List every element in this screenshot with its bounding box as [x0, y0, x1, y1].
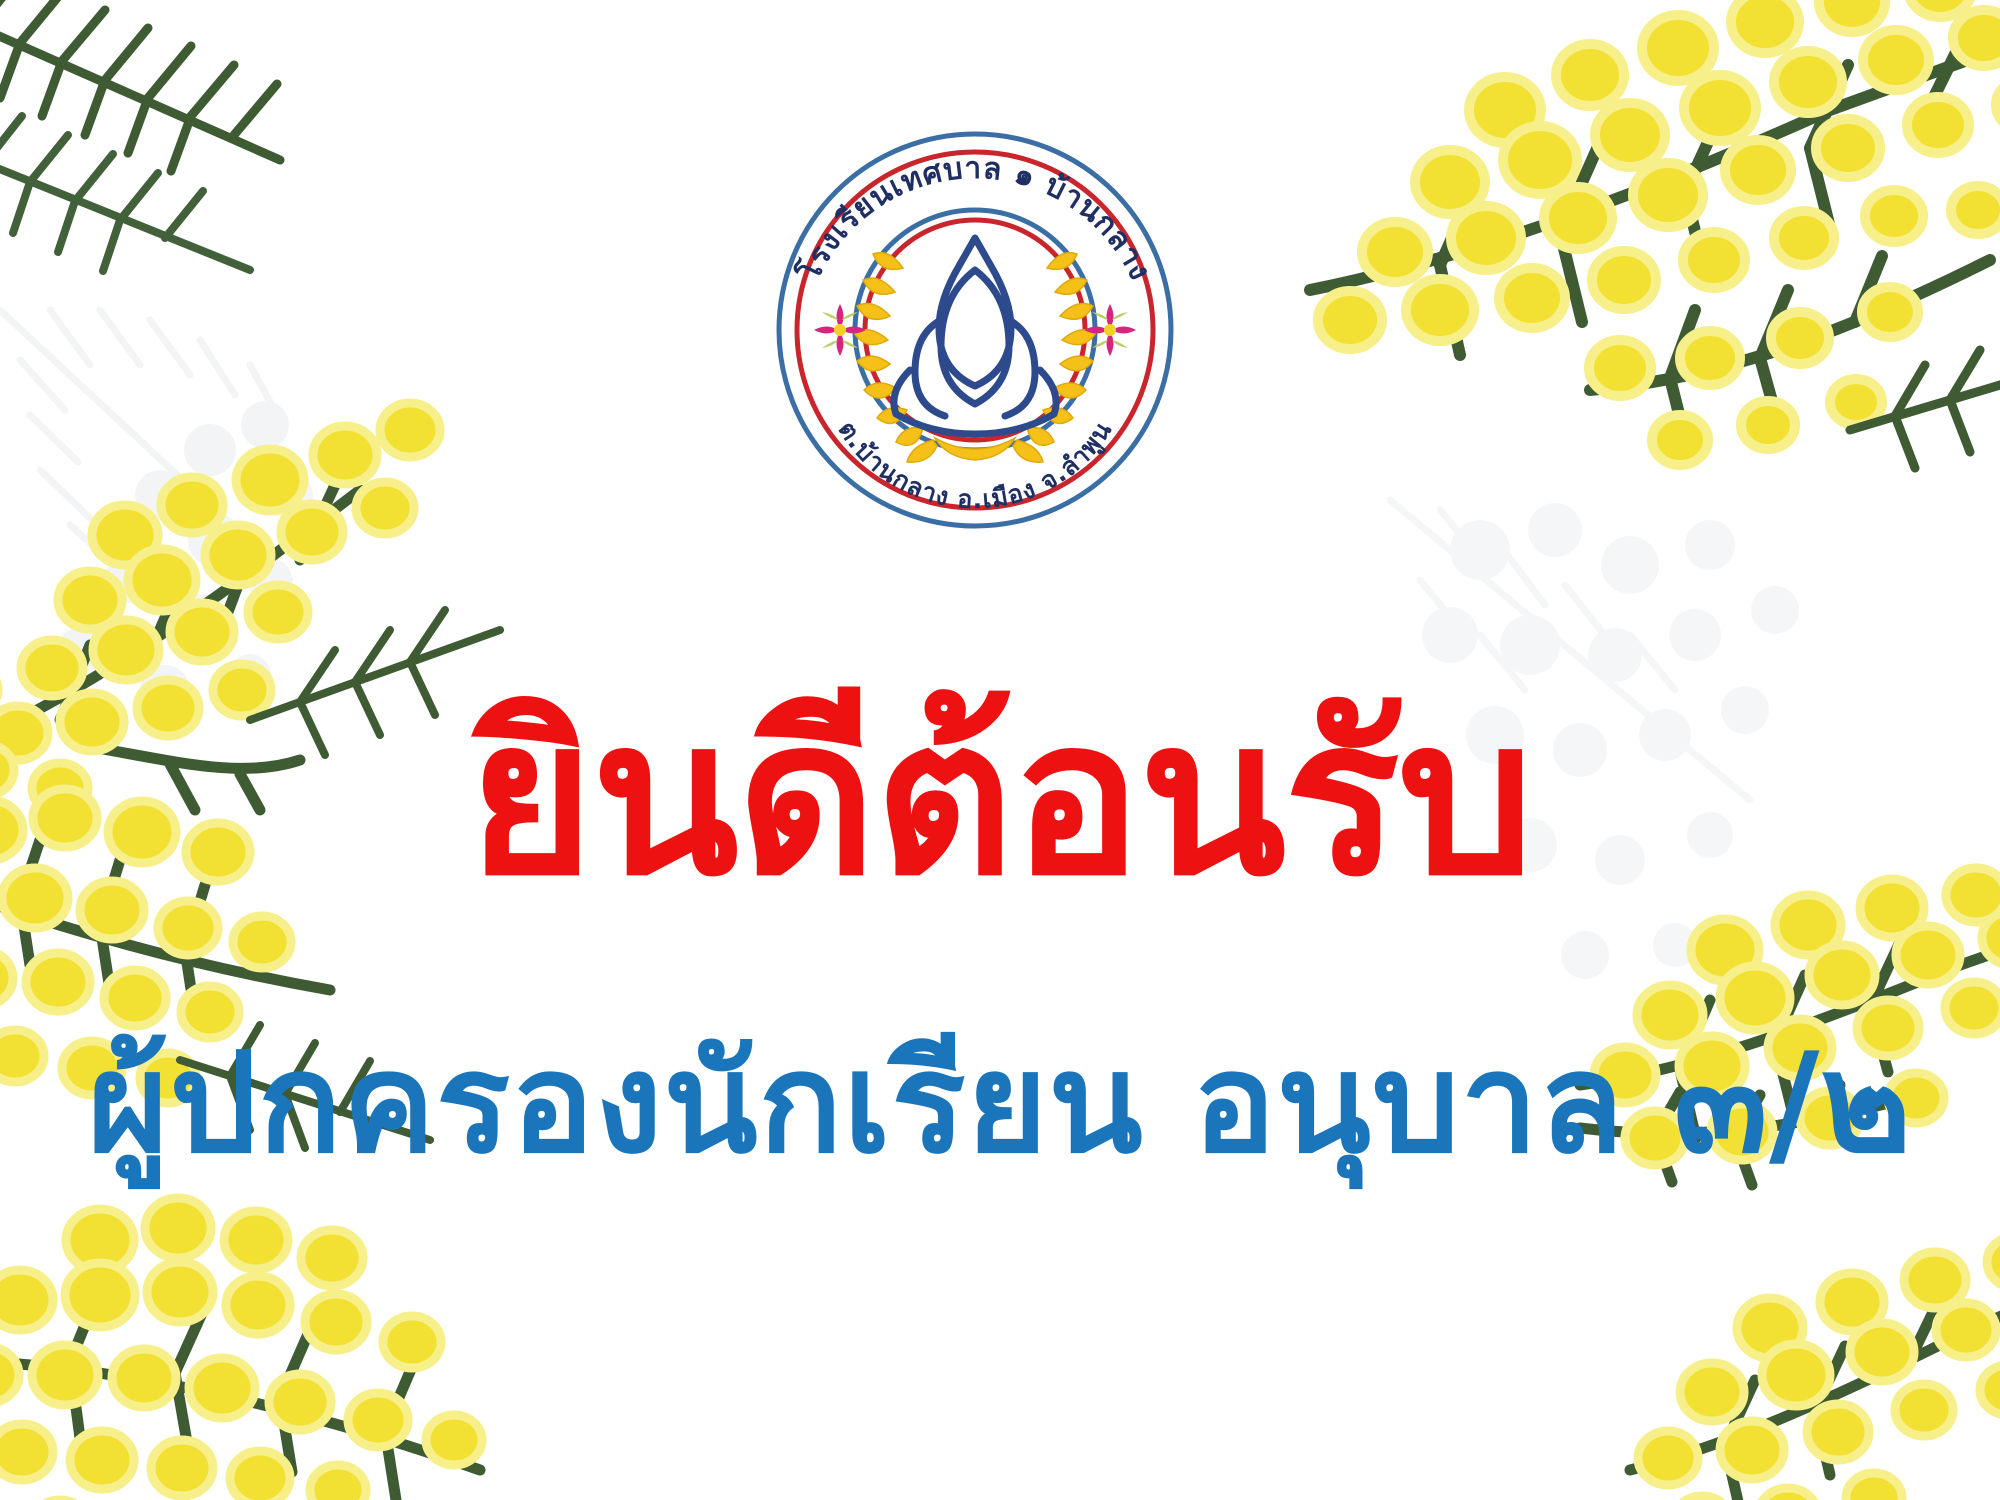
deco-bottom-right-branch [1640, 1210, 2000, 1500]
deco-top-left-fern [0, 0, 370, 300]
school-seal: โรงเรียนเทศบาล ๑ บ้านกลาง ต.บ้านกลาง อ.เ… [735, 120, 1215, 540]
welcome-headline-text: ยินดีต้อนรับ [468, 690, 1532, 905]
welcome-headline: ยินดีต้อนรับ [0, 690, 2000, 905]
slide-canvas: โรงเรียนเทศบาล ๑ บ้านกลาง ต.บ้านกลาง อ.เ… [0, 0, 2000, 1500]
audience-subheadline-text: ผู้ปกครองนักเรียน อนุบาล ๓/๒ [88, 1035, 1913, 1173]
deco-bottom-left-branch [0, 1170, 660, 1500]
audience-subheadline: ผู้ปกครองนักเรียน อนุบาล ๓/๒ [0, 1035, 2000, 1173]
deco-top-right-branch [1290, 0, 2000, 520]
